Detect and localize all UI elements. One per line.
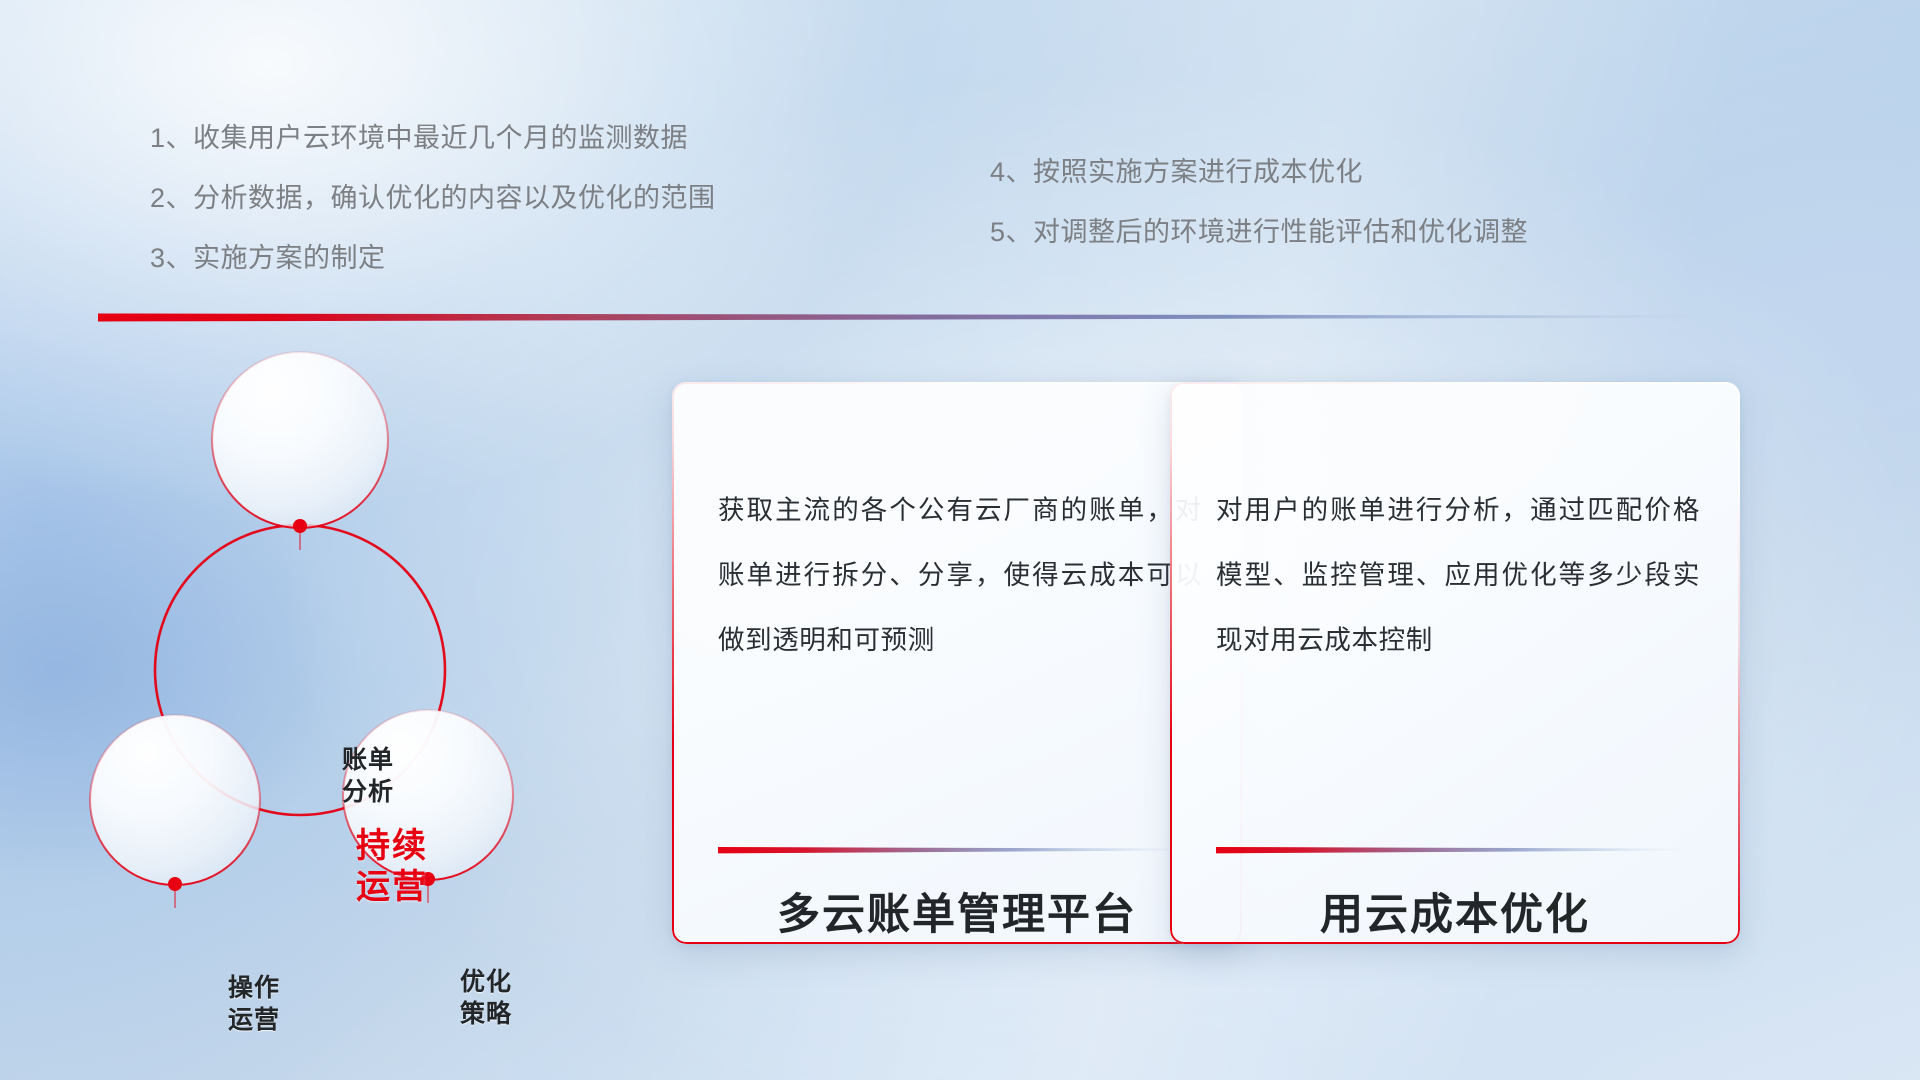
bubble-label-line2: 分析	[288, 776, 448, 808]
step-item-4: 4、按照实施方案进行成本优化	[990, 156, 1528, 190]
step-item-3: 3、实施方案的制定	[150, 242, 716, 276]
continuous-operation-diagram: 账单 分析 操作 运营 优化 策略 持续 运营	[90, 340, 650, 960]
step-item-1: 1、收集用户云环境中最近几个月的监测数据	[150, 122, 716, 156]
card-divider-line	[1216, 845, 1694, 855]
bubble-label-line1: 操作	[174, 972, 334, 1004]
slide-content: 1、收集用户云环境中最近几个月的监测数据 2、分析数据，确认优化的内容以及优化的…	[0, 0, 1920, 1080]
card-divider-line	[718, 845, 1196, 855]
card-cloud-cost-optimization[interactable]: 对用户的账单进行分析，通过匹配价格模型、监控管理、应用优化等多少段实现对用云成本…	[1170, 382, 1740, 944]
bubble-label-line2: 策略	[406, 998, 566, 1030]
card-title: 用云成本优化	[1170, 880, 1740, 942]
diagram-center-label: 持续 运营	[302, 826, 482, 909]
bubble-label-line2: 运营	[174, 1004, 334, 1036]
center-label-line2: 运营	[302, 867, 482, 908]
section-divider-line	[98, 310, 1758, 324]
bubble-label-operation-ops: 操作 运营	[174, 972, 334, 1036]
card-body-text: 对用户的账单进行分析，通过匹配价格模型、监控管理、应用优化等多少段实现对用云成本…	[1216, 478, 1700, 673]
bubble-operation-ops	[90, 715, 260, 885]
step-item-2: 2、分析数据，确认优化的内容以及优化的范围	[150, 182, 716, 216]
bubble-bill-analysis	[212, 352, 388, 528]
card-multi-cloud-billing-platform[interactable]: 获取主流的各个公有云厂商的账单，对账单进行拆分、分享，使得云成本可以做到透明和可…	[672, 382, 1242, 944]
node-dot-top	[293, 519, 307, 533]
steps-right-column: 4、按照实施方案进行成本优化 5、对调整后的环境进行性能评估和优化调整	[990, 156, 1528, 250]
step-item-5: 5、对调整后的环境进行性能评估和优化调整	[990, 216, 1528, 250]
card-title: 多云账单管理平台	[672, 880, 1242, 942]
bubble-label-line1: 优化	[406, 966, 566, 998]
card-body-text: 获取主流的各个公有云厂商的账单，对账单进行拆分、分享，使得云成本可以做到透明和可…	[718, 478, 1202, 673]
bubble-label-optimization-policy: 优化 策略	[406, 966, 566, 1030]
steps-left-column: 1、收集用户云环境中最近几个月的监测数据 2、分析数据，确认优化的内容以及优化的…	[150, 122, 716, 275]
bubble-label-bill-analysis: 账单 分析	[288, 744, 448, 808]
node-dot-bottom-left	[168, 877, 182, 891]
bubble-label-line1: 账单	[288, 744, 448, 776]
center-label-line1: 持续	[302, 826, 482, 867]
